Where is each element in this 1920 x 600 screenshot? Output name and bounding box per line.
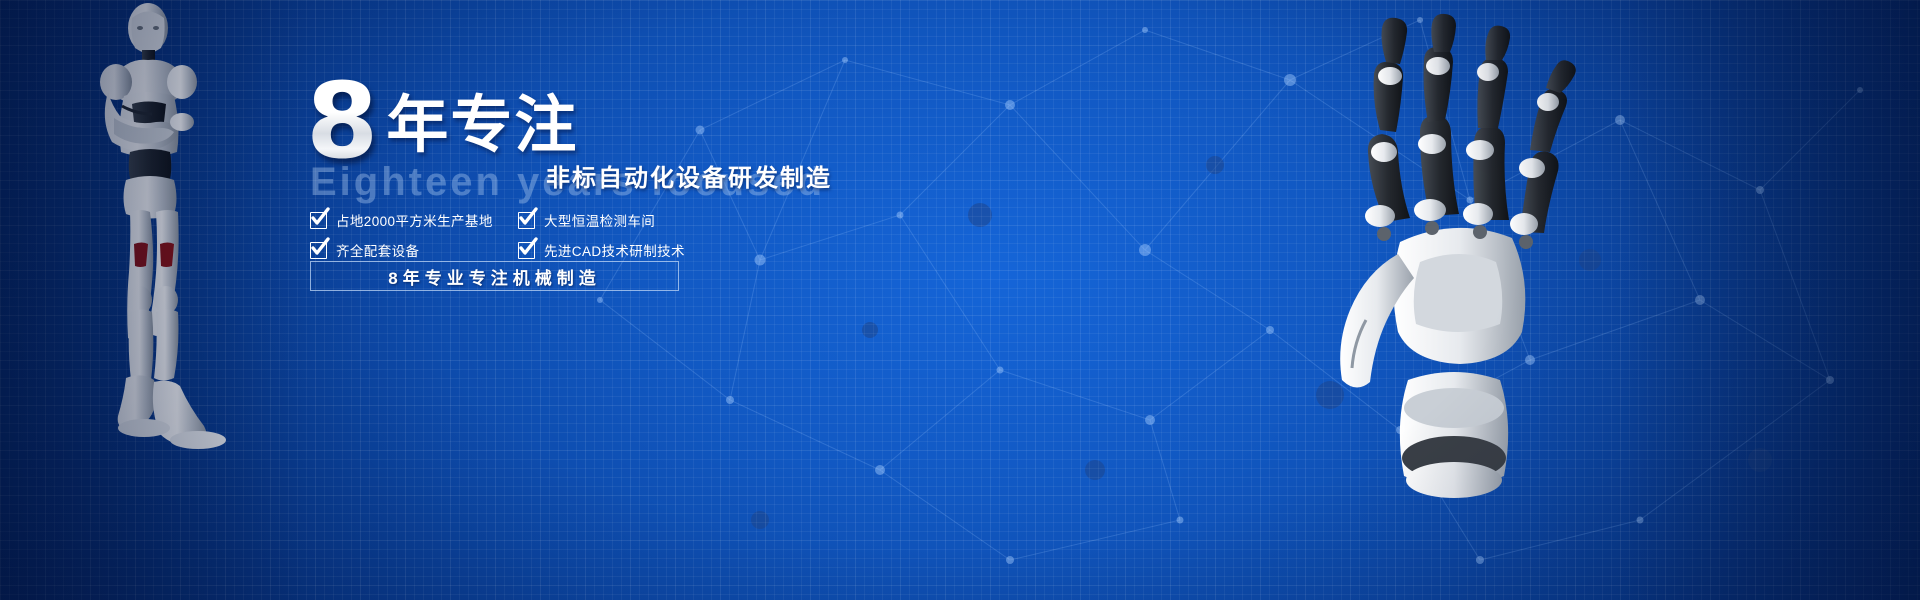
- hero-banner: Eighteen years focused 8 年专注 非标自动化设备研发制造…: [0, 0, 1920, 600]
- slogan-bar: 8年专业专注机械制造: [310, 261, 679, 291]
- headline-text: 年专注: [386, 74, 578, 164]
- checkbox-check-icon: [310, 212, 327, 229]
- headline-group: 8 年专注: [306, 74, 578, 170]
- feature-label: 大型恒温检测车间: [544, 210, 655, 230]
- headline-number: 8: [306, 74, 376, 170]
- feature-item: 占地2000平方米生产基地: [310, 205, 518, 235]
- checkbox-check-icon: [518, 242, 535, 259]
- banner-subtitle: 非标自动化设备研发制造: [546, 158, 832, 193]
- feature-item: 大型恒温检测车间: [518, 205, 718, 235]
- slogan-text: 8年专业专注机械制造: [388, 264, 600, 289]
- feature-label: 齐全配套设备: [336, 240, 419, 260]
- checkbox-check-icon: [518, 212, 535, 229]
- feature-list: 占地2000平方米生产基地 大型恒温检测车间 齐全配套设备 先进CAD技术研制技…: [310, 205, 710, 265]
- feature-label: 占地2000平方米生产基地: [336, 210, 493, 230]
- checkbox-check-icon: [310, 242, 327, 259]
- banner-content: Eighteen years focused 8 年专注 非标自动化设备研发制造…: [0, 0, 1920, 600]
- feature-label: 先进CAD技术研制技术: [544, 240, 685, 260]
